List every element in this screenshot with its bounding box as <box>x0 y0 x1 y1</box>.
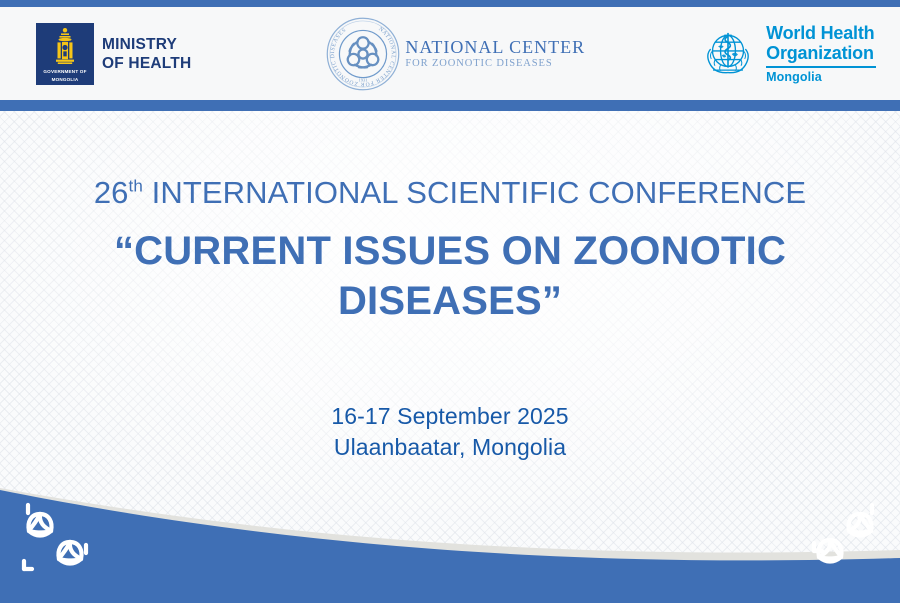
bottom-wave-band <box>0 458 900 603</box>
svg-text:1931: 1931 <box>359 77 368 82</box>
conference-title-slide: GOVERNMENT OF MONGOLIA MINISTRY OF HEALT… <box>0 0 900 603</box>
who-rod-of-asclepius-emblem <box>697 23 759 85</box>
conference-title-line1: “CURRENT ISSUES ON ZOONOTIC <box>60 226 840 276</box>
who-underline-rule <box>766 66 876 68</box>
conference-ordinal: th <box>129 177 143 196</box>
mongolia-soyombo-emblem: GOVERNMENT OF MONGOLIA <box>36 23 94 85</box>
logo-row: GOVERNMENT OF MONGOLIA MINISTRY OF HEALT… <box>0 7 900 100</box>
who-name-line2: Organization <box>766 43 876 63</box>
emblem-caption-line2: MONGOLIA <box>52 77 79 83</box>
slide-main-content: 26th INTERNATIONAL SCIENTIFIC CONFERENCE… <box>0 111 900 463</box>
logo-ministry-of-health: GOVERNMENT OF MONGOLIA MINISTRY OF HEALT… <box>36 23 191 85</box>
zoonotic-seal-icon: NATIONAL CENTER FOR ZOONOTIC DISEASES 19… <box>325 16 401 92</box>
national-center-name-line2: FOR ZOONOTIC DISEASES <box>405 57 585 71</box>
conference-meta: 16-17 September 2025 Ulaanbaatar, Mongol… <box>0 401 900 463</box>
conference-subtitle-text: INTERNATIONAL SCIENTIFIC CONFERENCE <box>143 175 806 210</box>
national-center-name: NATIONAL CENTER FOR ZOONOTIC DISEASES <box>405 37 585 71</box>
conference-number: 26 <box>94 175 129 210</box>
conference-subtitle: 26th INTERNATIONAL SCIENTIFIC CONFERENCE <box>0 174 900 212</box>
ministry-name-line1: MINISTRY <box>102 35 191 54</box>
mongolian-ulzii-knot-ornament-left <box>14 501 100 579</box>
who-country-label: Mongolia <box>766 70 876 84</box>
emblem-caption-line1: GOVERNMENT OF <box>43 69 86 75</box>
header-divider-bar <box>0 100 900 111</box>
ministry-name-line2: OF HEALTH <box>102 54 191 73</box>
who-name: World Health Organization Mongolia <box>766 23 876 84</box>
conference-dates: 16-17 September 2025 <box>0 401 900 432</box>
mongolian-ulzii-knot-ornament-right <box>800 503 886 573</box>
who-name-line1: World Health <box>766 23 876 43</box>
top-accent-bar <box>0 0 900 7</box>
logo-world-health-organization: World Health Organization Mongolia <box>697 23 876 85</box>
soyombo-icon <box>50 27 80 67</box>
ministry-of-health-name: MINISTRY OF HEALTH <box>102 35 191 73</box>
logo-national-center-zoonotic-diseases: NATIONAL CENTER FOR ZOONOTIC DISEASES 19… <box>325 16 585 92</box>
conference-title-line2: DISEASES” <box>60 276 840 326</box>
national-center-name-line1: NATIONAL CENTER <box>405 37 585 57</box>
conference-title: “CURRENT ISSUES ON ZOONOTIC DISEASES” <box>0 226 900 326</box>
